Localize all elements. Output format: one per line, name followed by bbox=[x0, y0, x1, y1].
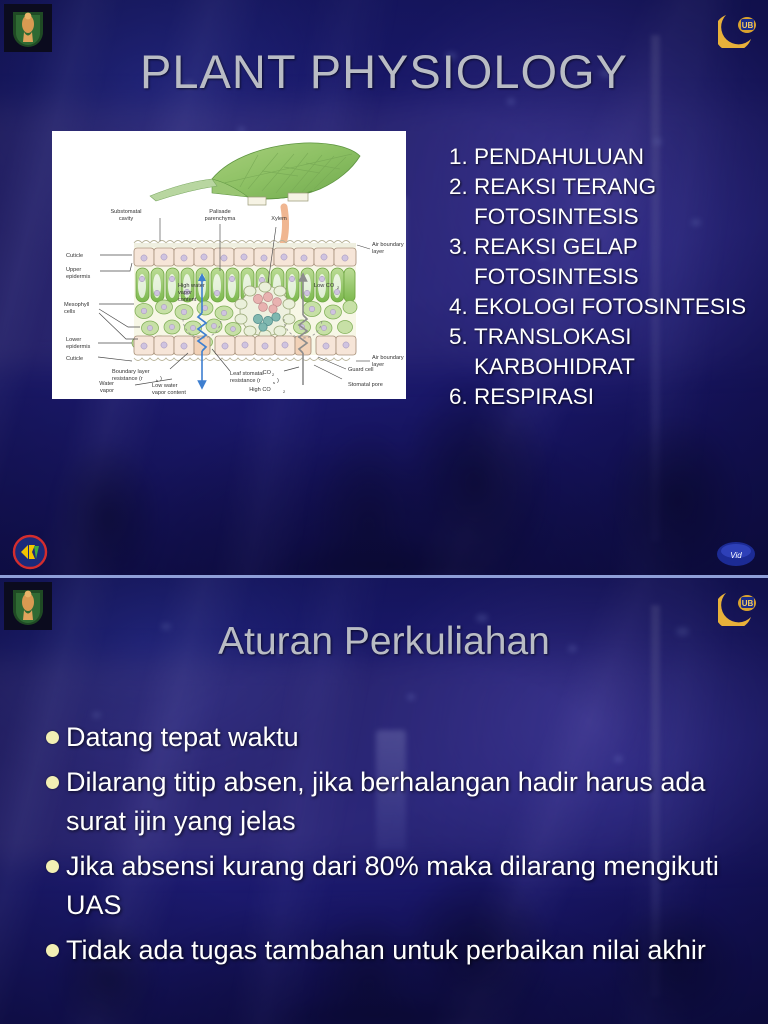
svg-text:vapor: vapor bbox=[100, 388, 114, 394]
label-high-water-vapor-content: High water bbox=[178, 283, 205, 289]
rule-text: Datang tepat waktu bbox=[66, 718, 748, 757]
outline-text: RESPIRASI bbox=[474, 382, 749, 412]
label-palisade-parenchyma: Palisade bbox=[209, 209, 230, 215]
label-air-boundary-layer-top: Air boundary bbox=[372, 242, 404, 248]
label-leaf-stomatal-resistance: Leaf stomatal bbox=[230, 371, 264, 377]
label-guard-cell: Guard cell bbox=[348, 367, 374, 373]
outline-item: 1. PENDAHULUAN bbox=[449, 142, 749, 172]
outline-number: 4. bbox=[449, 292, 474, 322]
slide-1-title: PLANT PHYSIOLOGY bbox=[0, 44, 768, 99]
outline-text: TRANSLOKASI KARBOHIDRAT bbox=[474, 322, 749, 382]
rule-item: Tidak ada tugas tambahan untuk perbaikan… bbox=[38, 931, 748, 970]
outline-text: EKOLOGI FOTOSINTESIS bbox=[474, 292, 749, 322]
slide-2: Aturan Perkuliahan Datang tepat waktu Di… bbox=[0, 578, 768, 1024]
label-low-water-vapor-content: Low water bbox=[152, 383, 178, 389]
presentation-page: PLANT PHYSIOLOGY bbox=[0, 0, 768, 1024]
label-co2: CO bbox=[263, 370, 272, 376]
bullet-icon bbox=[38, 847, 66, 873]
bullet-icon bbox=[38, 763, 66, 789]
label-high-co2: High CO bbox=[249, 387, 271, 393]
svg-text:epidermis: epidermis bbox=[66, 344, 90, 350]
svg-text:s: s bbox=[273, 380, 275, 385]
svg-text:cells: cells bbox=[64, 309, 75, 315]
faculty-emblem-logo bbox=[10, 533, 50, 571]
outline-number: 3. bbox=[449, 232, 474, 292]
diagram-svg: Substomatal cavity Palisade parenchyma X… bbox=[52, 131, 406, 399]
label-stomatal-pore: Stomatal pore bbox=[348, 382, 383, 388]
outline-item: 3. REAKSI GELAP FOTOSINTESIS bbox=[449, 232, 749, 292]
leaf-cross-section-diagram: Substomatal cavity Palisade parenchyma X… bbox=[52, 131, 406, 399]
svg-text:epidermis: epidermis bbox=[66, 274, 90, 280]
svg-text:resistance (r: resistance (r bbox=[112, 376, 143, 382]
outline-item: 5. TRANSLOKASI KARBOHIDRAT bbox=[449, 322, 749, 382]
label-cuticle-bottom: Cuticle bbox=[66, 356, 83, 362]
svg-text:): ) bbox=[277, 378, 279, 384]
svg-text:layer: layer bbox=[372, 249, 384, 255]
ub-crescent-logo: UB bbox=[718, 6, 762, 48]
outline-text: REAKSI GELAP FOTOSINTESIS bbox=[474, 232, 749, 292]
outline-text: PENDAHULUAN bbox=[474, 142, 749, 172]
bullet-icon bbox=[38, 718, 66, 744]
rule-text: Jika absensi kurang dari 80% maka dilara… bbox=[66, 847, 748, 925]
label-substomatal-cavity: Substomatal bbox=[110, 209, 141, 215]
label-lower-epidermis: Lower bbox=[66, 337, 81, 343]
slide-1: PLANT PHYSIOLOGY bbox=[0, 0, 768, 575]
label-upper-epidermis: Upper bbox=[66, 267, 81, 273]
slide-2-title: Aturan Perkuliahan bbox=[0, 620, 768, 664]
vascular-bundle bbox=[235, 282, 295, 340]
label-xylem: Xylem bbox=[271, 216, 287, 222]
ub-crescent-logo: UB bbox=[718, 584, 762, 626]
rule-text: Tidak ada tugas tambahan untuk perbaikan… bbox=[66, 931, 748, 970]
svg-text:UB: UB bbox=[742, 21, 754, 30]
svg-text:vapor: vapor bbox=[178, 290, 192, 296]
outline-text: REAKSI TERANG FOTOSINTESIS bbox=[474, 172, 749, 232]
outline-number: 5. bbox=[449, 322, 474, 382]
svg-text:vapor content: vapor content bbox=[152, 390, 186, 396]
outline-number: 6. bbox=[449, 382, 474, 412]
svg-text:cavity: cavity bbox=[119, 216, 134, 222]
outline-item: 6. RESPIRASI bbox=[449, 382, 749, 412]
label-air-boundary-layer-bottom: Air boundary bbox=[372, 355, 404, 361]
universitas-brawijaya-seal bbox=[4, 4, 52, 52]
label-cuticle-top: Cuticle bbox=[66, 253, 83, 259]
outline-number: 1. bbox=[449, 142, 474, 172]
svg-text:UB: UB bbox=[742, 599, 754, 608]
label-low-co2: Low CO bbox=[314, 283, 335, 289]
outline-item: 2. REAKSI TERANG FOTOSINTESIS bbox=[449, 172, 749, 232]
label-mesophyll-cells: Mesophyll bbox=[64, 302, 89, 308]
svg-text:parenchyma: parenchyma bbox=[205, 216, 237, 222]
label-boundary-layer-resistance: Boundary layer bbox=[112, 369, 150, 375]
rule-item: Datang tepat waktu bbox=[38, 718, 748, 757]
course-outline-list: 1. PENDAHULUAN 2. REAKSI TERANG FOTOSINT… bbox=[449, 142, 749, 412]
rule-item: Dilarang titip absen, jika berhalangan h… bbox=[38, 763, 748, 841]
universitas-brawijaya-seal bbox=[4, 582, 52, 630]
svg-text:layer: layer bbox=[372, 362, 384, 368]
svg-text:Vid: Vid bbox=[730, 551, 742, 560]
outline-item: 4. EKOLOGI FOTOSINTESIS bbox=[449, 292, 749, 322]
svg-text:content: content bbox=[178, 297, 197, 303]
rule-item: Jika absensi kurang dari 80% maka dilara… bbox=[38, 847, 748, 925]
slide-divider bbox=[0, 575, 768, 578]
svg-text:resistance (r: resistance (r bbox=[230, 378, 261, 384]
label-water-vapor: Water bbox=[99, 381, 114, 387]
svg-text:): ) bbox=[160, 376, 162, 382]
rule-text: Dilarang titip absen, jika berhalangan h… bbox=[66, 763, 748, 841]
video-badge-logo: Vid bbox=[714, 539, 758, 569]
bullet-icon bbox=[38, 931, 66, 957]
outline-number: 2. bbox=[449, 172, 474, 232]
course-rules-list: Datang tepat waktu Dilarang titip absen,… bbox=[38, 718, 748, 976]
